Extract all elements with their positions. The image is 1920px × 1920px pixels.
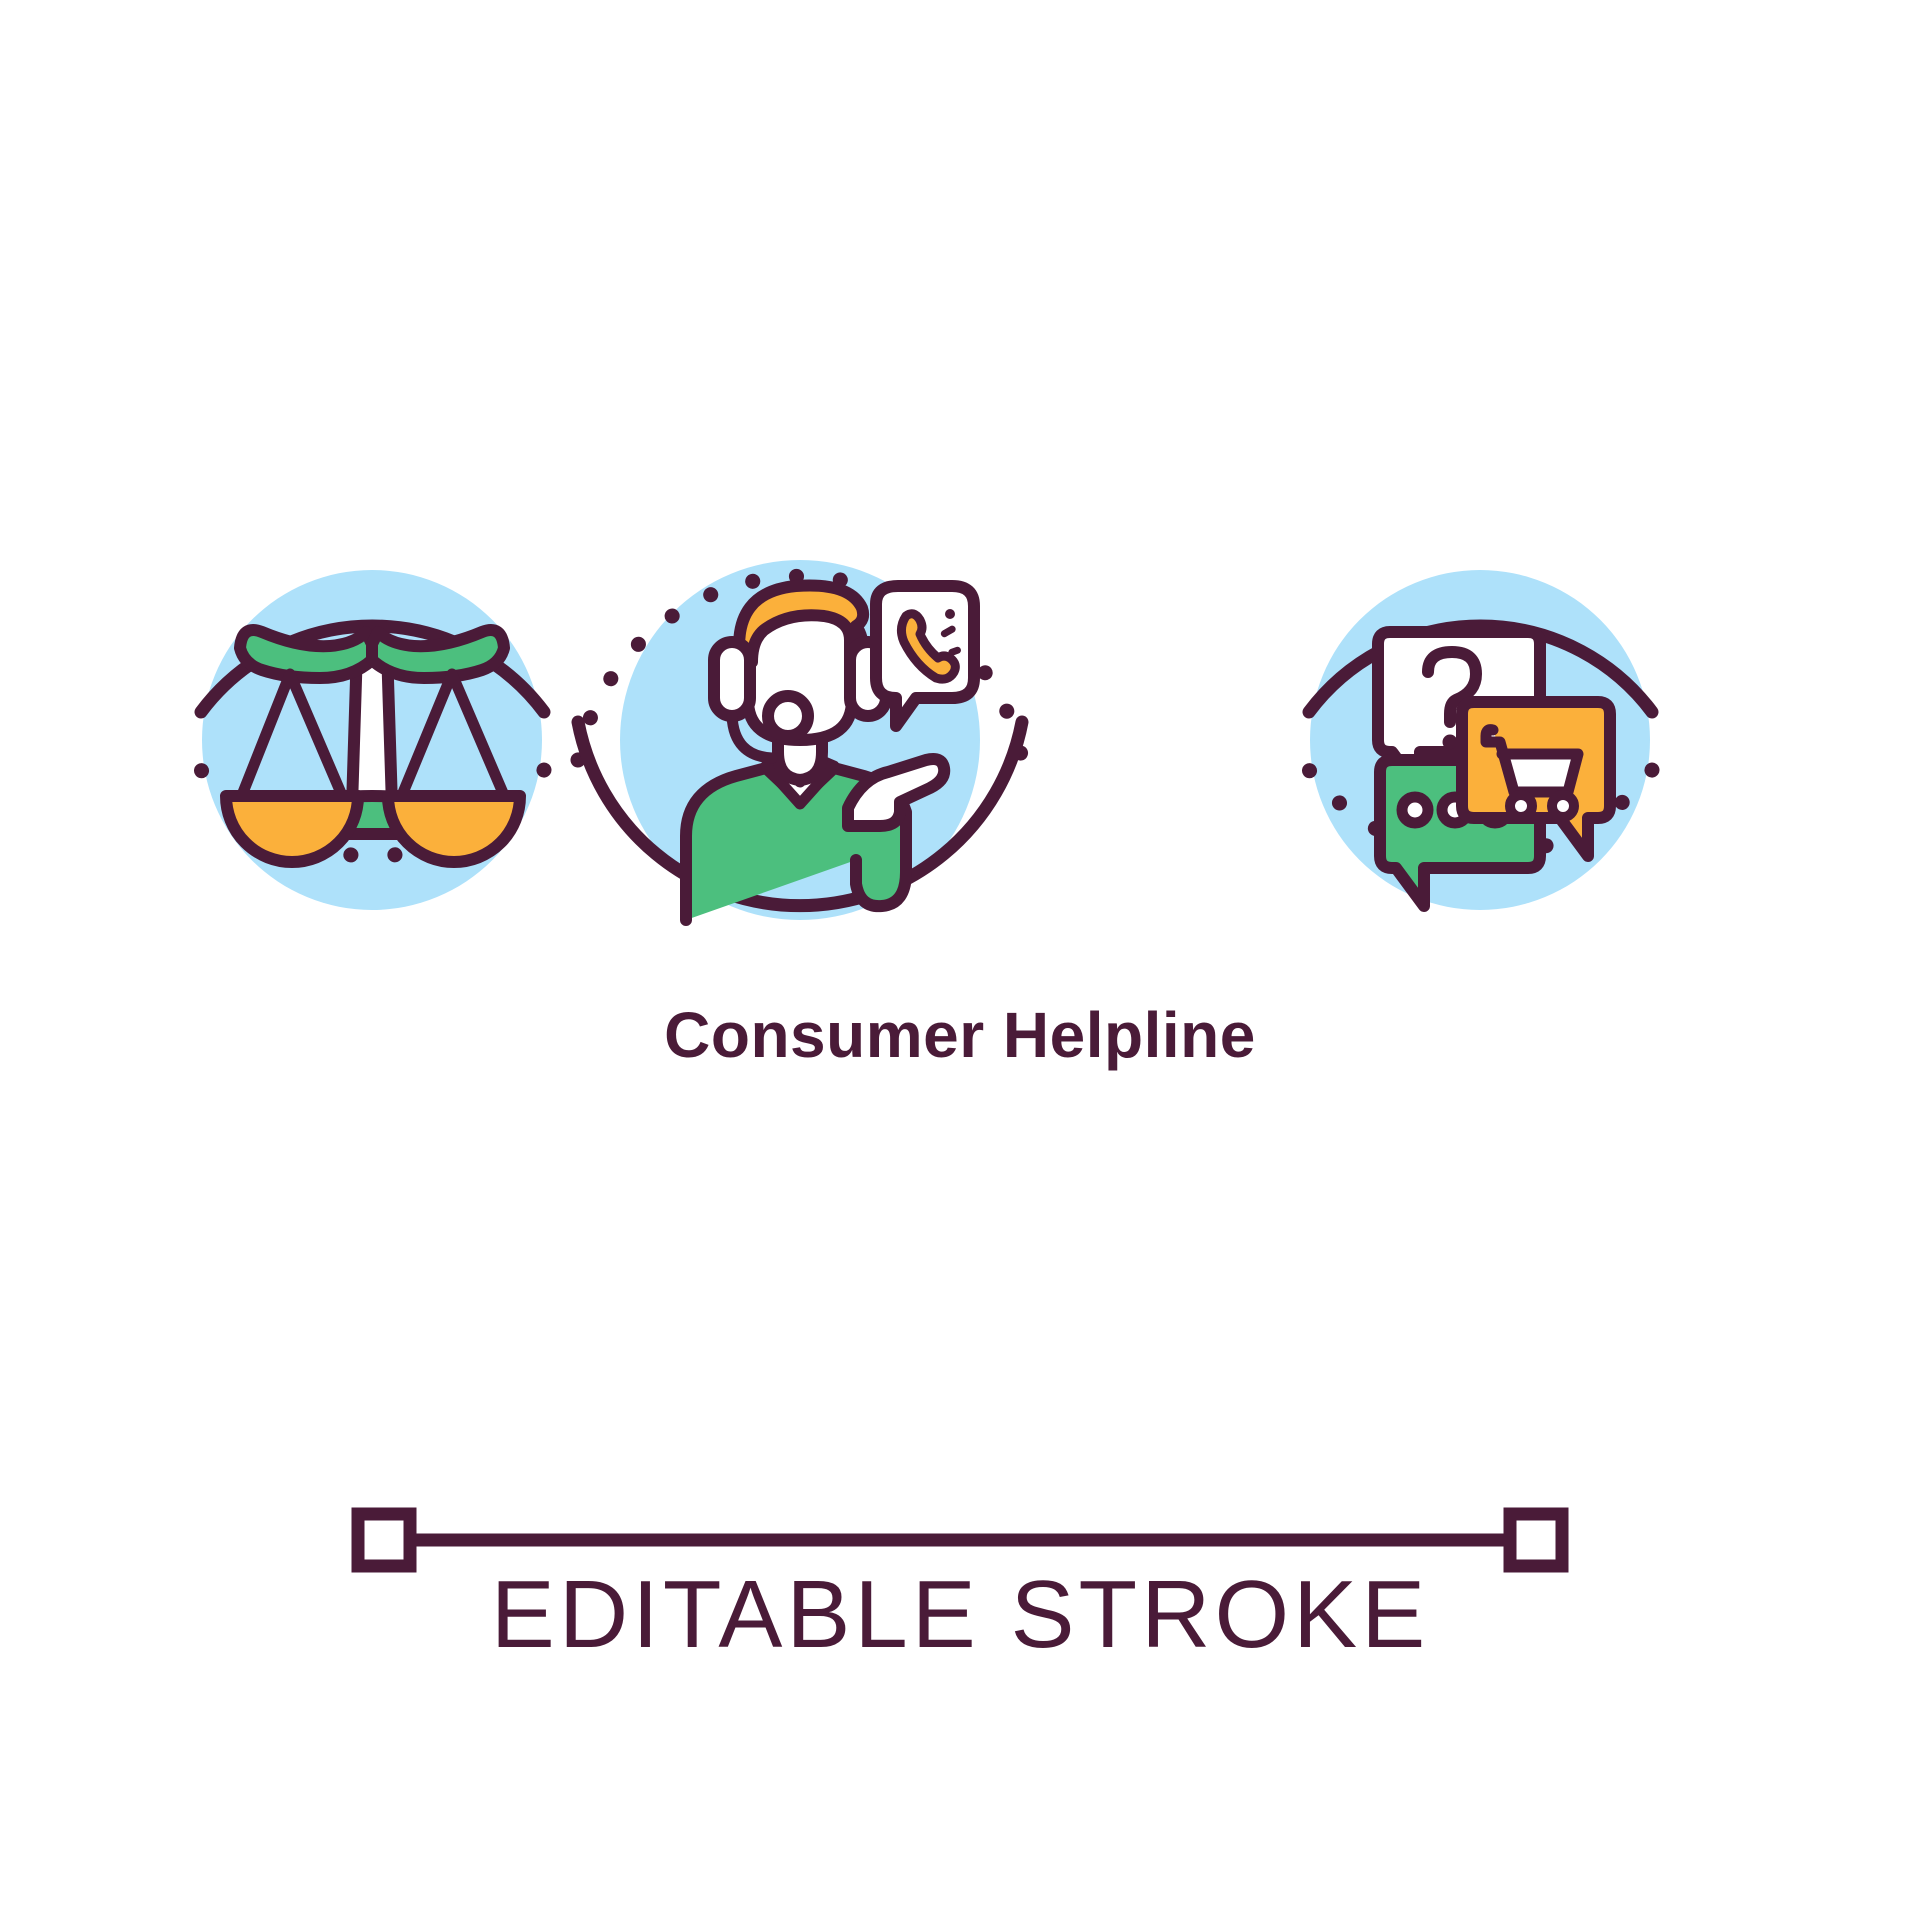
page-title: Consumer Helpline — [0, 1000, 1920, 1070]
icon-group-chat-bubbles[interactable] — [1309, 570, 1652, 910]
concept-icon-canvas: Consumer Helpline EDITABLE STROKE — [0, 0, 1920, 1920]
agent-headset-mic-tip — [768, 696, 808, 736]
question-mark-dot — [1443, 735, 1458, 750]
agent-headset-left-cup — [714, 642, 750, 716]
stroke-marker-left-cap — [358, 1514, 410, 1566]
cart-wheel-left — [1510, 795, 1532, 817]
cart-wheel-right — [1552, 795, 1574, 817]
icon-group-justice-scales[interactable] — [201, 570, 544, 910]
editable-stroke-label-wrap: EDITABLE STROKE — [0, 1560, 1920, 1670]
icon-group-support-agent[interactable] — [578, 560, 1022, 920]
stroke-marker-right-cap — [1510, 1514, 1562, 1566]
concept-title-wrap: Consumer Helpline — [0, 1000, 1920, 1070]
editable-stroke-label: EDITABLE STROKE — [0, 1560, 1920, 1670]
editable-stroke-width-marker — [358, 1514, 1562, 1566]
